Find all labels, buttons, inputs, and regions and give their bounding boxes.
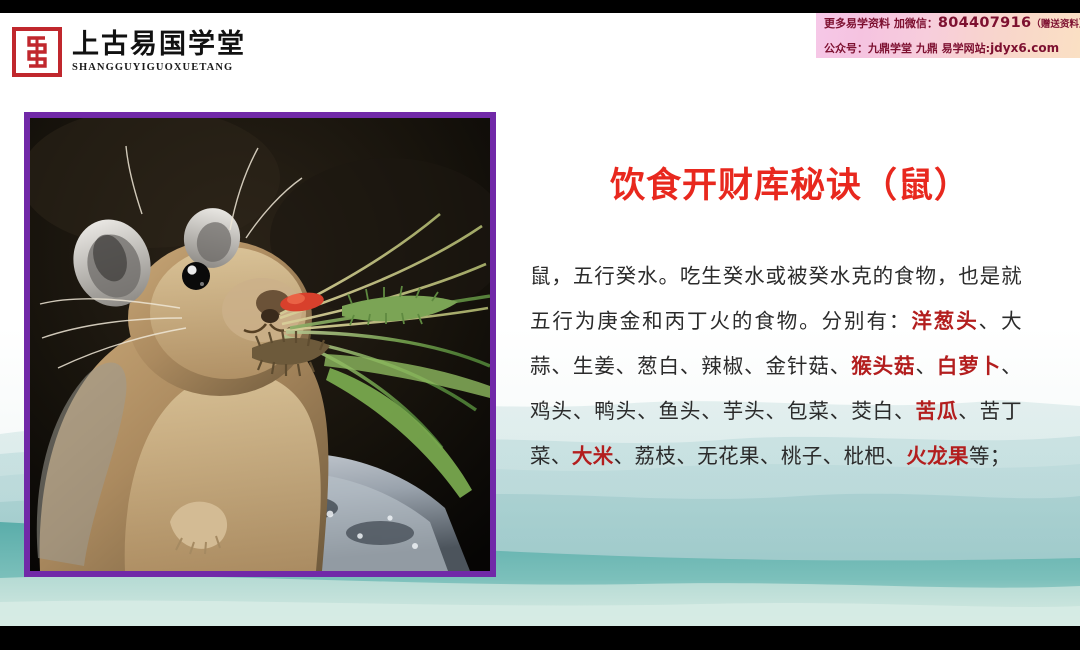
promo-account-name: 九鼎学堂 九鼎 易学网站: <box>868 42 990 55</box>
highlighted-food-term: 洋葱头 <box>911 309 978 333</box>
promo-website-url[interactable]: jdyx6.com <box>990 41 1059 55</box>
presentation-slide: 上古易国学堂 SHANGGUYIGUOXUETANG <box>0 0 1080 650</box>
body-text-segment: 等； <box>969 444 1011 468</box>
body-text-segment: 、 <box>915 354 936 378</box>
letterbox-bottom <box>0 626 1080 650</box>
promo-account-label: 公众号： <box>824 42 868 55</box>
slide-canvas: 上古易国学堂 SHANGGUYIGUOXUETANG <box>0 13 1080 626</box>
highlighted-food-term: 苦瓜 <box>915 399 958 423</box>
promo-line-account: 公众号：九鼎学堂 九鼎 易学网站:jdyx6.com <box>824 37 1076 60</box>
promo-line-wechat: 更多易学资料 加微信：804407916（赠送资料） <box>824 10 1076 38</box>
featured-photo-frame <box>24 112 496 577</box>
body-text-segment: 、荔枝、无花果、桃子、枇杷、 <box>614 444 907 468</box>
highlighted-food-term: 大米 <box>572 444 614 468</box>
promo-wechat-number: 804407916 <box>938 15 1032 31</box>
pika-photo <box>30 118 490 571</box>
highlighted-food-term: 猴头菇 <box>851 354 915 378</box>
highlighted-food-term: 火龙果 <box>906 444 969 468</box>
promo-banner[interactable]: 更多易学资料 加微信：804407916（赠送资料） 公众号：九鼎学堂 九鼎 易… <box>816 12 1080 58</box>
content-column: 饮食开财库秘诀（鼠） 鼠，五行癸水。吃生癸水或被癸水克的食物，也是就五行为庚金和… <box>530 133 1050 479</box>
body-paragraph: 鼠，五行癸水。吃生癸水或被癸水克的食物，也是就五行为庚金和丙丁火的食物。分别有：… <box>530 254 1022 479</box>
highlighted-food-term: 白萝卜 <box>937 354 1001 378</box>
brand-logo: 上古易国学堂 SHANGGUYIGUOXUETANG <box>12 27 246 77</box>
promo-wechat-note: （赠送资料） <box>1031 19 1080 30</box>
promo-wechat-label: 更多易学资料 加微信： <box>824 17 938 30</box>
letterbox-top <box>0 0 1080 13</box>
logo-name-cn: 上古易国学堂 <box>72 31 246 58</box>
logo-name-pinyin: SHANGGUYIGUOXUETANG <box>72 63 246 74</box>
seal-square-logo-icon <box>12 27 62 77</box>
page-title: 饮食开财库秘诀（鼠） <box>530 157 1050 208</box>
